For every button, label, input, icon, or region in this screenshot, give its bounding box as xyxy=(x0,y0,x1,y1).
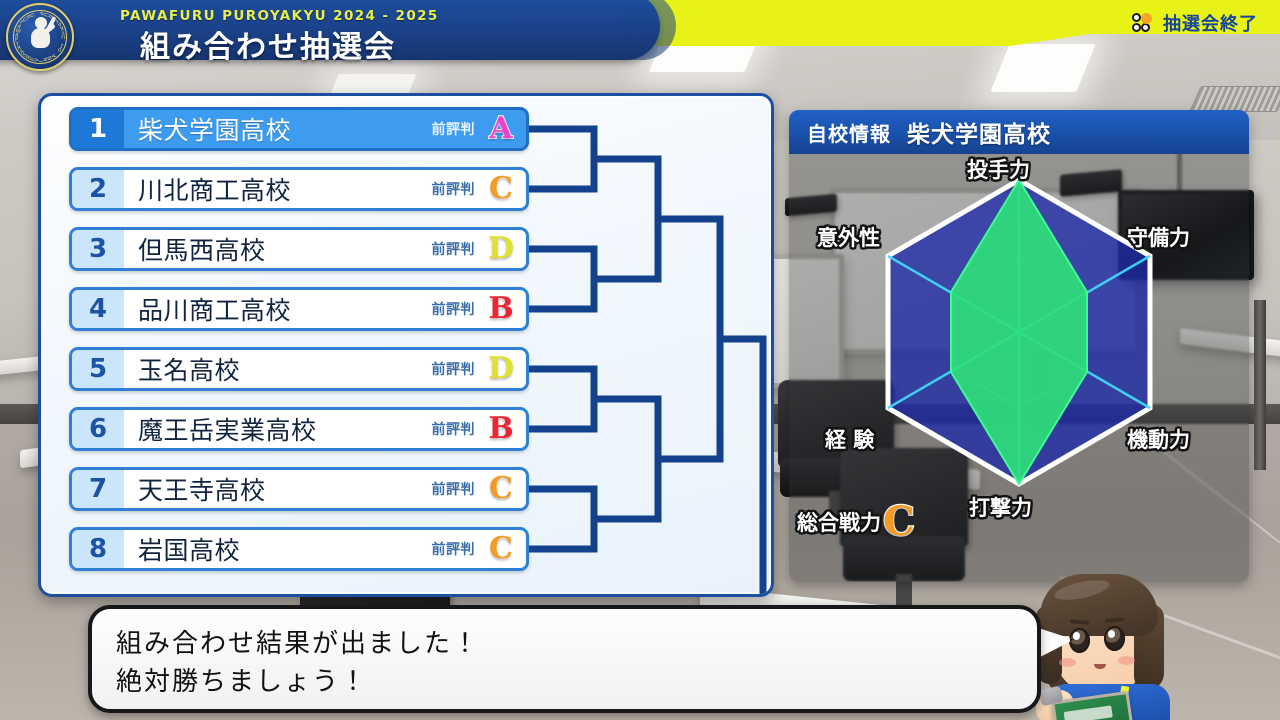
reputation-grade: D xyxy=(481,354,521,384)
reputation-grade: B xyxy=(481,414,521,444)
overall-power-grade: C xyxy=(883,502,915,542)
avatar-blush-left xyxy=(1059,658,1076,667)
reputation-label: 前評判 xyxy=(432,239,476,259)
reputation-label: 前評判 xyxy=(432,359,476,379)
team-name: 玉名高校 xyxy=(124,351,432,387)
table-row[interactable]: 7 天王寺高校 前評判 C xyxy=(69,467,529,511)
table-row[interactable]: 1 柴犬学園高校 前評判 A xyxy=(69,107,529,151)
team-name: 川北商工高校 xyxy=(124,171,432,207)
game-screen: PAWAFURU PUROYAKYU 10 ANNIVERSARY PAWAFU… xyxy=(0,0,1280,720)
radar-chart-svg xyxy=(849,162,1189,532)
reputation-grade: A xyxy=(481,114,521,144)
team-seed: 7 xyxy=(72,470,124,508)
tournament-emblem-icon: PAWAFURU PUROYAKYU 10 ANNIVERSARY xyxy=(6,3,74,71)
radar-axis-label-defense: 守備力 xyxy=(1127,222,1190,252)
team-seed: 3 xyxy=(72,230,124,268)
team-seed: 8 xyxy=(72,530,124,568)
table-row[interactable]: 5 玉名高校 前評判 D xyxy=(69,347,529,391)
radar-axis-label-experience: 経 験 xyxy=(825,424,874,454)
reputation-label: 前評判 xyxy=(432,119,476,139)
radar-chart: 投手力 守備力 機動力 打撃力 経 験 意外性 総合戦力 C xyxy=(789,154,1249,582)
reputation-grade: D xyxy=(481,234,521,264)
emblem-ring-text: PAWAFURU PUROYAKYU 10 ANNIVERSARY xyxy=(8,5,72,69)
avatar-eye-right xyxy=(1104,626,1125,651)
overall-power-label: 総合戦力 xyxy=(797,507,881,537)
reputation-label: 前評判 xyxy=(432,179,476,199)
reputation-label: 前評判 xyxy=(432,539,476,559)
radar-axis-label-pitching: 投手力 xyxy=(967,154,1030,184)
avatar-blush-right xyxy=(1118,656,1135,665)
team-seed: 2 xyxy=(72,170,124,208)
team-name: 天王寺高校 xyxy=(124,471,432,507)
reputation-grade: C xyxy=(481,534,521,564)
reputation-label: 前評判 xyxy=(432,479,476,499)
clover-icon xyxy=(1132,13,1154,33)
dialogue-line-2: 絶対勝ちましょう！ xyxy=(116,661,368,698)
team-name: 魔王岳実業高校 xyxy=(124,411,432,447)
table-row[interactable]: 3 但馬西高校 前評判 D xyxy=(69,227,529,271)
team-info-header-value: 柴犬学園高校 xyxy=(907,115,1051,149)
team-name: 柴犬学園高校 xyxy=(124,111,432,147)
reputation-grade: B xyxy=(481,294,521,324)
team-name: 品川商工高校 xyxy=(124,291,432,327)
page-title: 組み合わせ抽選会 xyxy=(140,22,396,66)
team-seed: 4 xyxy=(72,290,124,328)
radar-axis-label-surprise: 意外性 xyxy=(817,222,880,252)
table-row[interactable]: 6 魔王岳実業高校 前評判 B xyxy=(69,407,529,451)
radar-axis-label-speed: 機動力 xyxy=(1127,424,1190,454)
team-info-header-key: 自校情報 xyxy=(807,118,891,147)
team-seed: 1 xyxy=(72,110,124,148)
overall-power-badge: 総合戦力 C xyxy=(797,502,915,542)
status-badge: 抽選会終了 xyxy=(1132,10,1258,36)
status-label: 抽選会終了 xyxy=(1163,10,1258,36)
team-name: 岩国高校 xyxy=(124,531,432,567)
reputation-label: 前評判 xyxy=(432,419,476,439)
bracket-panel: 1 柴犬学園高校 前評判 A 2 川北商工高校 前評判 C 3 但馬西高校 前評… xyxy=(38,93,774,597)
team-info-header: 自校情報 柴犬学園高校 xyxy=(789,110,1249,154)
table-row[interactable]: 2 川北商工高校 前評判 C xyxy=(69,167,529,211)
dialogue-box[interactable]: 組み合わせ結果が出ました！ 絶対勝ちましょう！ xyxy=(88,605,1041,713)
avatar-hair-front xyxy=(1040,574,1158,636)
team-seed: 6 xyxy=(72,410,124,448)
team-info-panel: 自校情報 柴犬学園高校 投手力 xyxy=(789,110,1249,582)
table-row[interactable]: 8 岩国高校 前評判 C xyxy=(69,527,529,571)
ceiling-vent xyxy=(1189,86,1280,112)
support-pole xyxy=(1254,300,1266,470)
team-seed: 5 xyxy=(72,350,124,388)
reputation-grade: C xyxy=(481,474,521,504)
team-name: 但馬西高校 xyxy=(124,231,432,267)
reputation-label: 前評判 xyxy=(432,299,476,319)
radar-axis-label-batting: 打撃力 xyxy=(969,492,1032,522)
table-row[interactable]: 4 品川商工高校 前評判 B xyxy=(69,287,529,331)
dialogue-line-1: 組み合わせ結果が出ました！ xyxy=(116,623,480,660)
reputation-grade: C xyxy=(481,174,521,204)
